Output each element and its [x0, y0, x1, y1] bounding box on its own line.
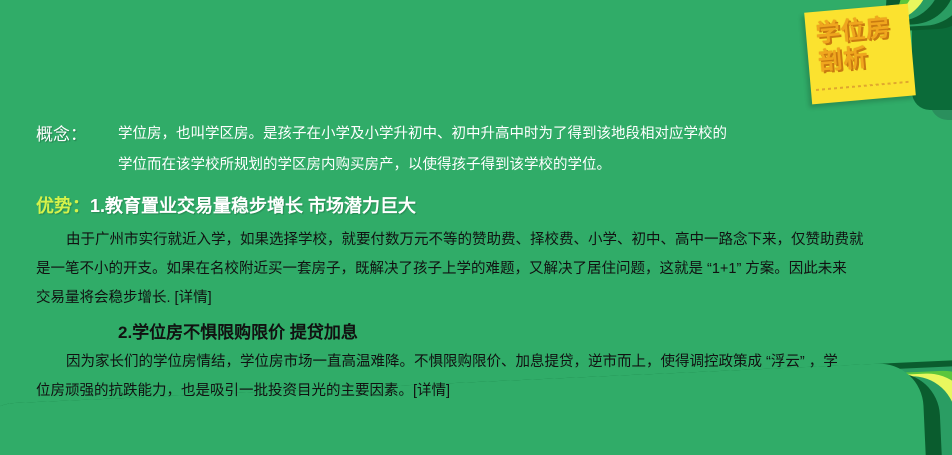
perforation-line-icon: [816, 81, 910, 91]
concept-section: 概念： 学位房，也叫学区房。是孩子在小学及小学升初中、初中升高中时为了得到该地段…: [36, 119, 952, 181]
concept-label: 概念：: [36, 119, 118, 150]
advantage-1-heading: 优势：1.教育置业交易量稳步增长 市场潜力巨大: [36, 193, 416, 219]
concept-row: 概念： 学位房，也叫学区房。是孩子在小学及小学升初中、初中升高中时为了得到该地段…: [36, 119, 952, 181]
topic-badge: 学位房 剖析: [804, 4, 916, 105]
advantage-2-paragraph: 因为家长们的学位房情结，学位房市场一直高温难降。不惧限购限价、加息提贷，逆市而上…: [36, 348, 838, 406]
advantage-1-paragraph: 由于广州市实行就近入学，如果选择学校，就要付数万元不等的赞助费、择校费、小学、初…: [36, 226, 864, 313]
advantage-1-line-2: 是一笔不小的开支。如果在名校附近买一套房子，既解决了孩子上学的难题，又解决了居住…: [36, 255, 864, 284]
advantage-2-heading: 2.学位房不惧限购限价 提贷加息: [36, 320, 358, 346]
topic-badge-inner: 学位房 剖析: [804, 4, 916, 105]
advantage-2-title: 2.学位房不惧限购限价 提贷加息: [36, 323, 358, 342]
concept-body: 学位房，也叫学区房。是孩子在小学及小学升初中、初中升高中时为了得到该地段相对应学…: [118, 119, 952, 181]
advantage-1-title: 1.教育置业交易量稳步增长 市场潜力巨大: [90, 196, 416, 216]
advantage-2-line-2: 位房顽强的抗跌能力，也是吸引一批投资目光的主要因素。[详情]: [36, 377, 838, 406]
advantage-1-line-3: 交易量将会稳步增长. [详情]: [36, 284, 864, 313]
advantage-1-line-1: 由于广州市实行就近入学，如果选择学校，就要付数万元不等的赞助费、择校费、小学、初…: [36, 226, 864, 255]
advantage-2-line-1: 因为家长们的学位房情结，学位房市场一直高温难降。不惧限购限价、加息提贷，逆市而上…: [36, 348, 838, 377]
page-root: 学位房 剖析 概念： 学位房，也叫学区房。是孩子在小学及小学升初中、初中升高中时…: [0, 0, 952, 455]
advantages-label: 优势：: [36, 196, 90, 216]
concept-line-1: 学位房，也叫学区房。是孩子在小学及小学升初中、初中升高中时为了得到该地段相对应学…: [118, 119, 952, 150]
concept-line-2: 学位而在该学校所规划的学区房内购买房产，以使得孩子得到该学校的学位。: [118, 150, 952, 181]
